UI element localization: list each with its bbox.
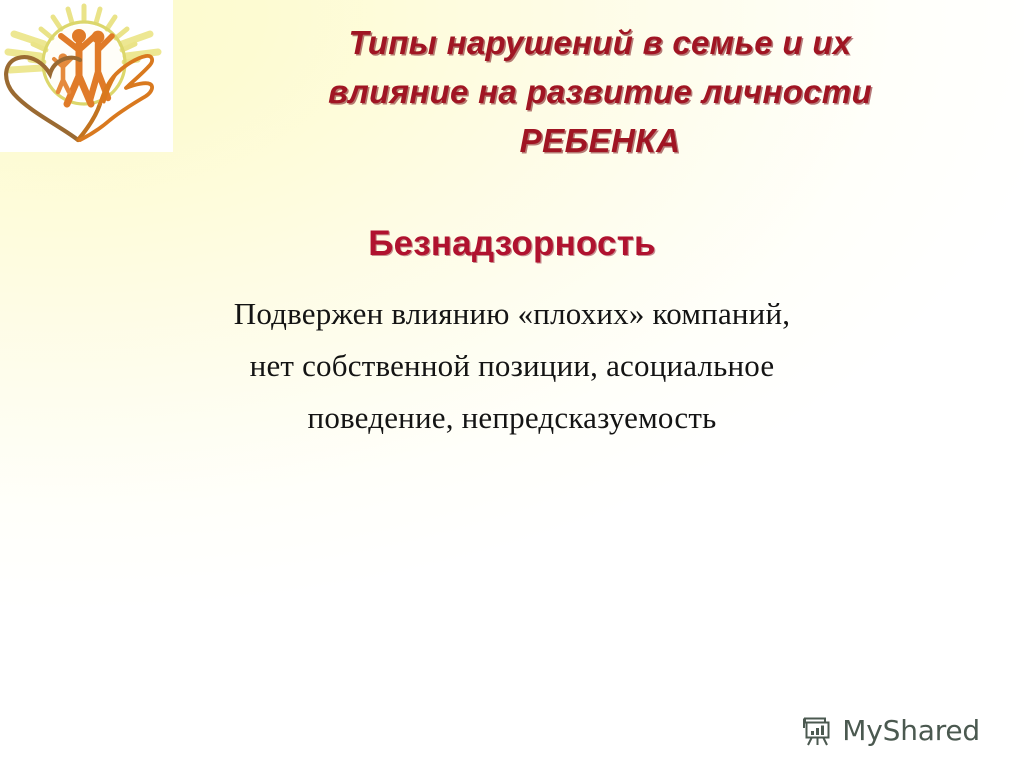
myshared-watermark: MyShared (800, 715, 980, 747)
presentation-slide: Типы нарушений в семье и их влияние на р… (0, 0, 1024, 767)
family-heart-hand-sun-logo (0, 0, 173, 152)
slide-title-line-1: Типы нарушений в семье и их (180, 18, 1020, 67)
slide-title: Типы нарушений в семье и их влияние на р… (180, 18, 1020, 165)
myshared-label: MyShared (842, 717, 980, 745)
presentation-easel-chart-icon (800, 715, 834, 747)
section-heading: Безнадзорность (0, 222, 1024, 266)
organization-logo (0, 0, 173, 152)
slide-title-line-2: влияние на развитие личности (180, 67, 1020, 116)
body-line-2: нет собственной позиции, асоциальное (62, 340, 962, 392)
body-line-1: Подвержен влиянию «плохих» компаний, (62, 288, 962, 340)
slide-title-line-3: РЕБЕНКА (180, 116, 1020, 165)
body-line-3: поведение, непредсказуемость (62, 392, 962, 444)
slide-body-text: Подвержен влиянию «плохих» компаний, нет… (62, 288, 962, 444)
